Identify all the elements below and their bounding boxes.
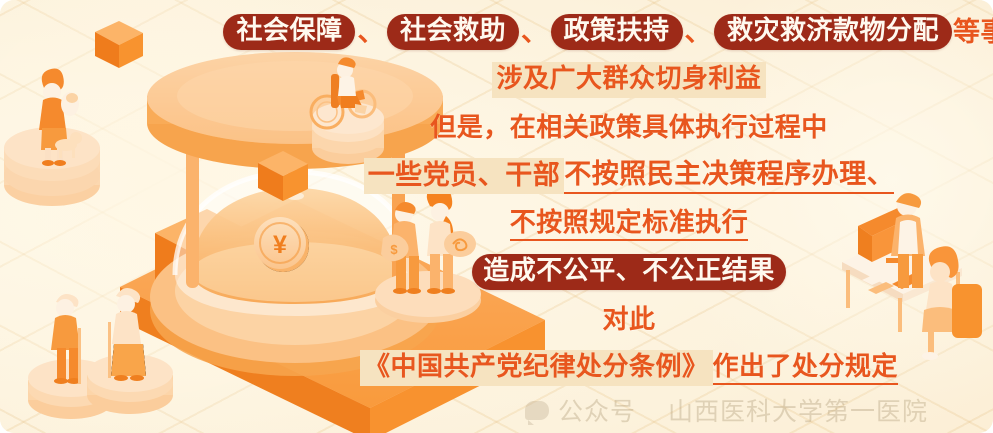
text-line-3-body: 但是，在相关政策具体执行过程中 xyxy=(430,104,828,152)
text-line-4: 一些党员、干部 不按照民主决策程序办理、 xyxy=(364,152,895,200)
text-line-6: 造成不公平、不公正结果 xyxy=(471,248,787,296)
text-line-7-body: 对此 xyxy=(602,296,655,344)
underline-not-following-procedure: 不按照民主决策程序办理、 xyxy=(564,158,894,193)
chat-bubble-icon xyxy=(525,401,549,420)
text-line-8: 《中国共产党纪律处分条例》 作出了处分规定 xyxy=(360,344,898,392)
text-line-7: 对此 xyxy=(602,296,655,344)
separator-1: 、 xyxy=(356,8,386,56)
pill-disaster-relief-distribution: 救灾救济款物分配 xyxy=(714,14,952,51)
separator-2: 、 xyxy=(520,8,550,56)
text-line-5: 不按照规定标准执行 xyxy=(510,200,749,248)
pill-social-assistance: 社会救助 xyxy=(387,14,519,51)
text-line-2: 涉及广大群众切身利益 xyxy=(492,56,765,104)
text-line-1-tail: 等事项 xyxy=(953,8,993,56)
watermark-prefix: 公众号 xyxy=(558,392,636,428)
watermark: 公众号 山西医科大学第一医院 xyxy=(525,392,928,428)
pill-social-security: 社会保障 xyxy=(223,14,355,51)
highlight-regulation-title: 《中国共产党纪律处分条例》 xyxy=(360,350,713,385)
separator-3: 、 xyxy=(684,8,714,56)
text-line-3: 但是，在相关政策具体执行过程中 xyxy=(430,104,828,152)
pill-policy-support: 政策扶持 xyxy=(551,14,683,51)
text-line-1: 社会保障 、 社会救助 、 政策扶持 、 救灾救济款物分配 等事项 xyxy=(222,8,993,56)
poster-root: ¥ xyxy=(0,0,993,433)
text-content-block: 社会保障 、 社会救助 、 政策扶持 、 救灾救济款物分配 等事项 涉及广大群众… xyxy=(270,8,988,408)
underline-made-provisions: 作出了处分规定 xyxy=(713,351,899,385)
highlight-public-interest: 涉及广大群众切身利益 xyxy=(492,62,765,97)
underline-not-following-standard: 不按照规定标准执行 xyxy=(510,207,749,241)
highlight-some-party-members: 一些党员、干部 xyxy=(364,158,565,194)
pill-unfair-result: 造成不公平、不公正结果 xyxy=(472,254,786,291)
watermark-account-name: 山西医科大学第一医院 xyxy=(668,392,928,428)
